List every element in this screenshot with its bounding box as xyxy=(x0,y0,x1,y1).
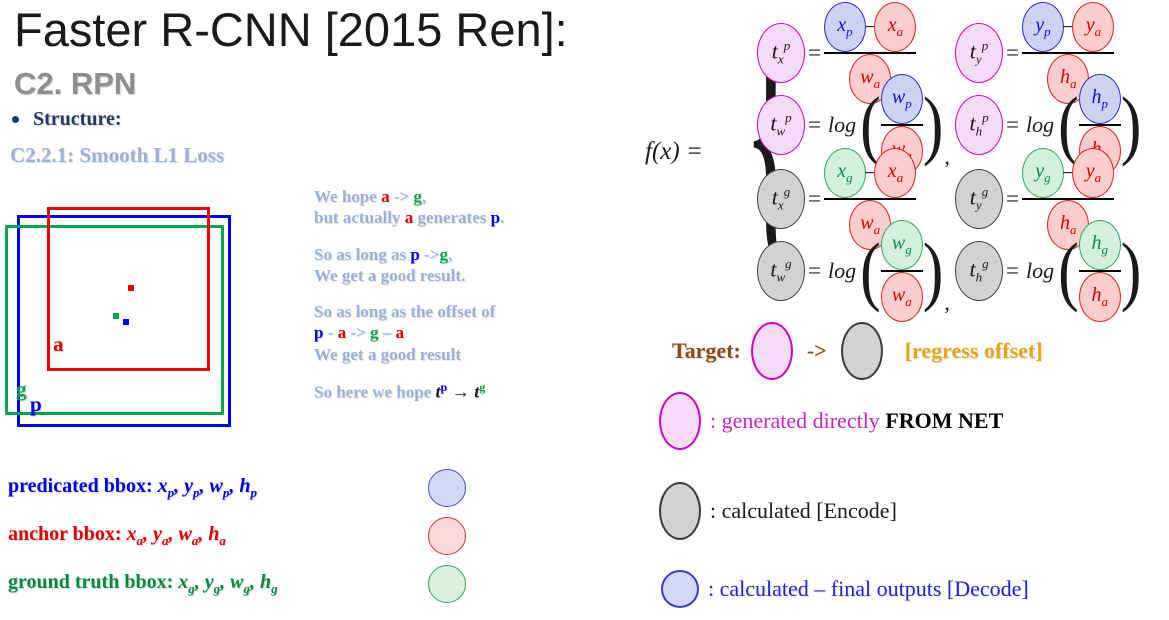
explanation-text: We hope a -> g, but actually a generates… xyxy=(314,186,594,418)
target-label: Target: xyxy=(672,338,741,364)
prose-p3-l2-arrow: -> xyxy=(346,323,370,342)
fraction-numerator: yg−ya xyxy=(1022,148,1114,198)
equation-comma: , xyxy=(944,290,950,322)
prose-p1-l1-arrow: -> xyxy=(390,187,414,206)
math-token-x-a: xa xyxy=(874,2,916,52)
legend-label-predicted: predicated bbox: xp, yp, wp, hp xyxy=(8,475,257,501)
fraction-numerator: hp xyxy=(1079,74,1121,124)
fraction-denominator: wa xyxy=(881,272,923,322)
fraction-numerator: wg xyxy=(881,220,923,270)
prose-p2-l2: We get a good result. xyxy=(314,266,465,285)
center-dot-anchor xyxy=(128,285,134,291)
bbox-variable-legend: predicated bbox: xp, yp, wp, hp anchor b… xyxy=(8,464,478,608)
legend-shape-blue xyxy=(661,570,699,608)
prose-p1-l1-pre: We hope xyxy=(314,187,381,206)
prose-p1-l1-end: , xyxy=(422,187,426,206)
prose-p4-pre: So here we hope xyxy=(314,382,436,401)
math-token-x-p: xp xyxy=(824,2,866,52)
prose-paragraph-3: So as long as the offset of p - a -> g –… xyxy=(314,301,594,365)
bullet-structure: Structure: xyxy=(12,108,122,131)
equation-row-tw-g: twg=log(wgwa), xyxy=(757,220,951,322)
math-token-y-a: ya xyxy=(1072,2,1114,52)
legend-row-ground-truth: ground truth bbox: xg, yg, wg, hg xyxy=(8,560,478,608)
fraction-numerator: yp−ya xyxy=(1022,2,1114,52)
legend-swatch-predicted xyxy=(428,469,466,507)
bbox-label-ground-truth: g xyxy=(16,377,27,402)
prose-p3-l2-minus: - xyxy=(323,323,337,342)
prose-p3-l2-g: g xyxy=(370,323,379,342)
section-heading: C2.2.1: Smooth L1 Loss xyxy=(10,143,224,168)
math-token-w-a: wa xyxy=(881,272,923,322)
bullet-label: Structure: xyxy=(33,108,122,131)
equation-comma: , xyxy=(944,144,950,176)
equals-sign: = xyxy=(1006,112,1019,138)
legend-label-anchor: anchor bbox: xa, ya, wa, ha xyxy=(8,523,226,549)
math-token-w-p: wp xyxy=(881,74,923,124)
fraction-denominator: ha xyxy=(1079,272,1121,322)
legend-text-predicted: predicated bbox: xyxy=(8,475,158,497)
legend-text-ground-truth: ground truth bbox: xyxy=(8,571,178,593)
prose-p1-l2-pre: but actually xyxy=(314,208,405,227)
equation-lhs: thg xyxy=(955,241,1003,301)
legend-text-decode: : calculated – final outputs [Decode] xyxy=(708,576,1029,602)
center-dot-predicted xyxy=(123,319,129,325)
target-shape-to xyxy=(841,322,883,380)
prose-p1-l1-a: a xyxy=(381,187,390,206)
prose-p3-l2-a: a xyxy=(338,323,347,342)
equation-lhs: twg xyxy=(757,241,805,301)
prose-p4-sup2: g xyxy=(479,380,485,394)
legend-text-anchor: anchor bbox: xyxy=(8,523,127,545)
math-token-x-g: xg xyxy=(824,148,866,198)
equals-sign: = xyxy=(1006,258,1019,284)
legend-row-anchor: anchor bbox: xa, ya, wa, ha xyxy=(8,512,478,560)
bbox-label-anchor: a xyxy=(53,332,64,357)
prose-p3-l3: We get a good result xyxy=(314,345,461,364)
math-token-y-a: ya xyxy=(1072,148,1114,198)
fraction: hgha xyxy=(1079,220,1121,322)
equals-sign: = xyxy=(1006,40,1019,66)
legend-swatch-anchor xyxy=(428,517,466,555)
prose-p3-l1: So as long as the offset of xyxy=(314,302,495,321)
slide-subtitle: C2. RPN xyxy=(14,66,136,102)
log-label: log xyxy=(1026,258,1054,284)
math-token-h-p: hp xyxy=(1079,74,1121,124)
regression-equations: f(x) = { txp=xp−xawa,typ=yp−yahatwp=log(… xyxy=(645,0,1169,290)
legend-text-from-net-bold: FROM NET xyxy=(885,408,1003,433)
prose-p1-l2-a: a xyxy=(405,208,414,227)
equation-lhs: thp xyxy=(955,95,1003,155)
math-token-w-g: wg xyxy=(881,220,923,270)
prose-p2-l1-arrow: -> xyxy=(420,245,440,264)
prose-p4-arrow: → xyxy=(447,381,474,401)
target-shape-from xyxy=(751,322,793,380)
bbox-label-predicted: p xyxy=(30,392,42,417)
equals-sign: = xyxy=(808,186,821,212)
target-arrow: -> xyxy=(807,338,827,364)
bullet-dot-icon xyxy=(12,116,19,123)
equals-sign: = xyxy=(808,258,821,284)
legend-text-encode: : calculated [Encode] xyxy=(710,498,897,524)
slide-canvas: Faster R-CNN [2015 Ren]: C2. RPN Structu… xyxy=(0,0,1169,620)
legend-swatch-ground-truth xyxy=(428,565,466,603)
prose-p1-l2-end: . xyxy=(500,208,504,227)
math-token-y-g: yg xyxy=(1022,148,1064,198)
fraction-numerator: wp xyxy=(881,74,923,124)
prose-p2-l1-pre: So as long as xyxy=(314,245,410,264)
equals-sign: = xyxy=(808,112,821,138)
prose-paragraph-2: So as long as p ->g, We get a good resul… xyxy=(314,244,594,287)
log-label: log xyxy=(828,112,856,138)
legend-label-ground-truth: ground truth bbox: xg, yg, wg, hg xyxy=(8,571,278,597)
legend-row-from-net: : generated directly FROM NET xyxy=(659,392,1003,450)
legend-row-predicted: predicated bbox: xp, yp, wp, hp xyxy=(8,464,478,512)
prose-p1-l2-p: p xyxy=(491,208,500,227)
bbox-diagram: a g p xyxy=(0,175,250,455)
legend-text-from-net-pre: : generated directly xyxy=(710,408,885,433)
math-token-h-a: ha xyxy=(1079,272,1121,322)
equals-sign: = xyxy=(808,40,821,66)
prose-p1-l2-mid: generates xyxy=(413,208,490,227)
fraction: wgwa xyxy=(881,220,923,322)
prose-paragraph-4: So here we hope tp → tg xyxy=(314,380,594,403)
legend-shape-grey xyxy=(659,482,701,540)
prose-p3-l2-dash: – xyxy=(379,323,396,342)
regress-offset-label: [regress offset] xyxy=(905,338,1043,364)
fraction-numerator: xp−xa xyxy=(824,2,916,52)
equation-row-th-g: thg=log(hgha) xyxy=(955,220,1141,322)
equation-lhs: twp xyxy=(757,95,805,155)
log-label: log xyxy=(1026,112,1054,138)
fraction-numerator: xg−xa xyxy=(824,148,916,198)
prose-p3-l2-a2: a xyxy=(396,323,405,342)
fraction-numerator: hg xyxy=(1079,220,1121,270)
math-token-y-p: yp xyxy=(1022,2,1064,52)
legend-text-from-net: : generated directly FROM NET xyxy=(710,408,1003,434)
prose-p2-l1-g: g xyxy=(439,245,448,264)
page-title: Faster R-CNN [2015 Ren]: xyxy=(14,2,568,57)
function-label: f(x) = xyxy=(645,138,703,166)
center-dot-ground-truth xyxy=(113,313,119,319)
prose-p1-l1-g: g xyxy=(413,187,422,206)
math-token-x-a: xa xyxy=(874,148,916,198)
math-token-h-g: hg xyxy=(1079,220,1121,270)
prose-paragraph-1: We hope a -> g, but actually a generates… xyxy=(314,186,594,229)
prose-p2-l1-p: p xyxy=(410,245,419,264)
legend-row-encode: : calculated [Encode] xyxy=(659,482,897,540)
legend-row-decode: : calculated – final outputs [Decode] xyxy=(661,570,1029,608)
equals-sign: = xyxy=(1006,186,1019,212)
log-label: log xyxy=(828,258,856,284)
target-row: Target: -> [regress offset] xyxy=(672,322,1043,380)
prose-p2-l1-end: , xyxy=(448,245,452,264)
legend-shape-magenta xyxy=(659,392,701,450)
